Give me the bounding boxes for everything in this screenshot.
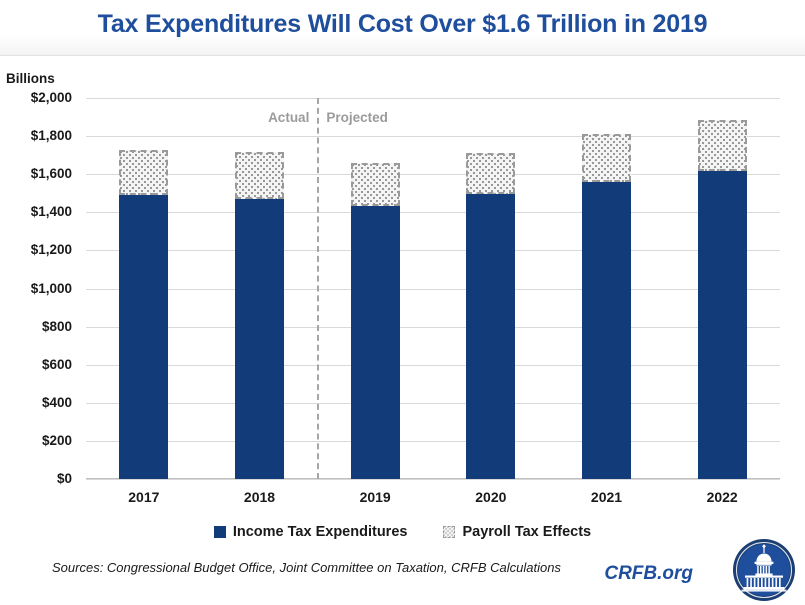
bar-income-2017[interactable] <box>119 195 168 479</box>
bar-payroll-2021[interactable] <box>582 134 631 182</box>
bar-group-2022[interactable] <box>698 98 747 479</box>
gridline <box>86 289 780 290</box>
y-axis-tick-label: $0 <box>0 471 72 486</box>
x-axis-tick-label-2019: 2019 <box>317 489 433 505</box>
x-axis-tick-labels: 201720182019202020212022 <box>86 489 780 511</box>
actual-projected-divider <box>317 98 319 479</box>
bar-group-2017[interactable] <box>119 98 168 479</box>
bar-group-2020[interactable] <box>466 98 515 479</box>
brand-crfb-org[interactable]: CRFB.org <box>604 563 693 585</box>
bar-income-2018[interactable] <box>235 199 284 479</box>
plot-area <box>86 98 780 479</box>
bar-payroll-2019[interactable] <box>351 163 400 206</box>
bar-income-2021[interactable] <box>582 182 631 479</box>
bar-payroll-2020[interactable] <box>466 153 515 194</box>
legend-swatch-income-icon <box>214 526 226 538</box>
chart-legend: Income Tax Expenditures Payroll Tax Effe… <box>0 524 805 540</box>
y-axis-tick-label: $2,000 <box>0 90 72 105</box>
crfb-capitol-dome-logo-icon <box>732 538 796 602</box>
y-axis-tick-label: $1,000 <box>0 281 72 296</box>
y-axis-tick-label: $800 <box>0 319 72 334</box>
gridline <box>86 403 780 404</box>
legend-item-payroll-tax-effects[interactable]: Payroll Tax Effects <box>443 524 591 540</box>
x-axis-tick-label-2018: 2018 <box>202 489 318 505</box>
sources-note: Sources: Congressional Budget Office, Jo… <box>52 560 561 575</box>
x-axis-tick-label-2022: 2022 <box>664 489 780 505</box>
bar-group-2021[interactable] <box>582 98 631 479</box>
y-axis-tick-label: $1,600 <box>0 166 72 181</box>
annotation-projected: Projected <box>326 110 388 125</box>
bar-group-2018[interactable] <box>235 98 284 479</box>
legend-swatch-payroll-icon <box>443 526 455 538</box>
bar-income-2019[interactable] <box>351 206 400 479</box>
gridline <box>86 136 780 137</box>
y-axis-tick-labels: $2,000$1,800$1,600$1,400$1,200$1,000$800… <box>0 98 78 479</box>
chart-root: Tax Expenditures Will Cost Over $1.6 Tri… <box>0 0 805 605</box>
y-axis-tick-label: $200 <box>0 433 72 448</box>
gridline <box>86 479 780 480</box>
bar-payroll-2018[interactable] <box>235 152 284 199</box>
bar-income-2022[interactable] <box>698 171 747 479</box>
page-title: Tax Expenditures Will Cost Over $1.6 Tri… <box>0 10 805 39</box>
y-axis-tick-label: $1,200 <box>0 242 72 257</box>
y-axis-unit-label: Billions <box>6 71 55 86</box>
gridline <box>86 212 780 213</box>
gridline <box>86 174 780 175</box>
x-axis-tick-label-2017: 2017 <box>86 489 202 505</box>
x-axis-tick-label-2020: 2020 <box>433 489 549 505</box>
bar-income-2020[interactable] <box>466 194 515 479</box>
y-axis-tick-label: $1,800 <box>0 128 72 143</box>
title-band: Tax Expenditures Will Cost Over $1.6 Tri… <box>0 0 805 56</box>
bar-payroll-2017[interactable] <box>119 150 168 195</box>
annotation-actual: Actual <box>247 110 309 125</box>
gridline <box>86 327 780 328</box>
gridline <box>86 365 780 366</box>
legend-label-payroll: Payroll Tax Effects <box>462 524 591 540</box>
gridline <box>86 250 780 251</box>
y-axis-tick-label: $400 <box>0 395 72 410</box>
y-axis-tick-label: $1,400 <box>0 204 72 219</box>
x-axis-tick-label-2021: 2021 <box>549 489 665 505</box>
legend-label-income: Income Tax Expenditures <box>233 524 408 540</box>
gridline <box>86 98 780 99</box>
bar-group-2019[interactable] <box>351 98 400 479</box>
y-axis-tick-label: $600 <box>0 357 72 372</box>
bar-payroll-2022[interactable] <box>698 120 747 171</box>
legend-item-income-tax-expenditures[interactable]: Income Tax Expenditures <box>214 524 408 540</box>
gridline <box>86 441 780 442</box>
